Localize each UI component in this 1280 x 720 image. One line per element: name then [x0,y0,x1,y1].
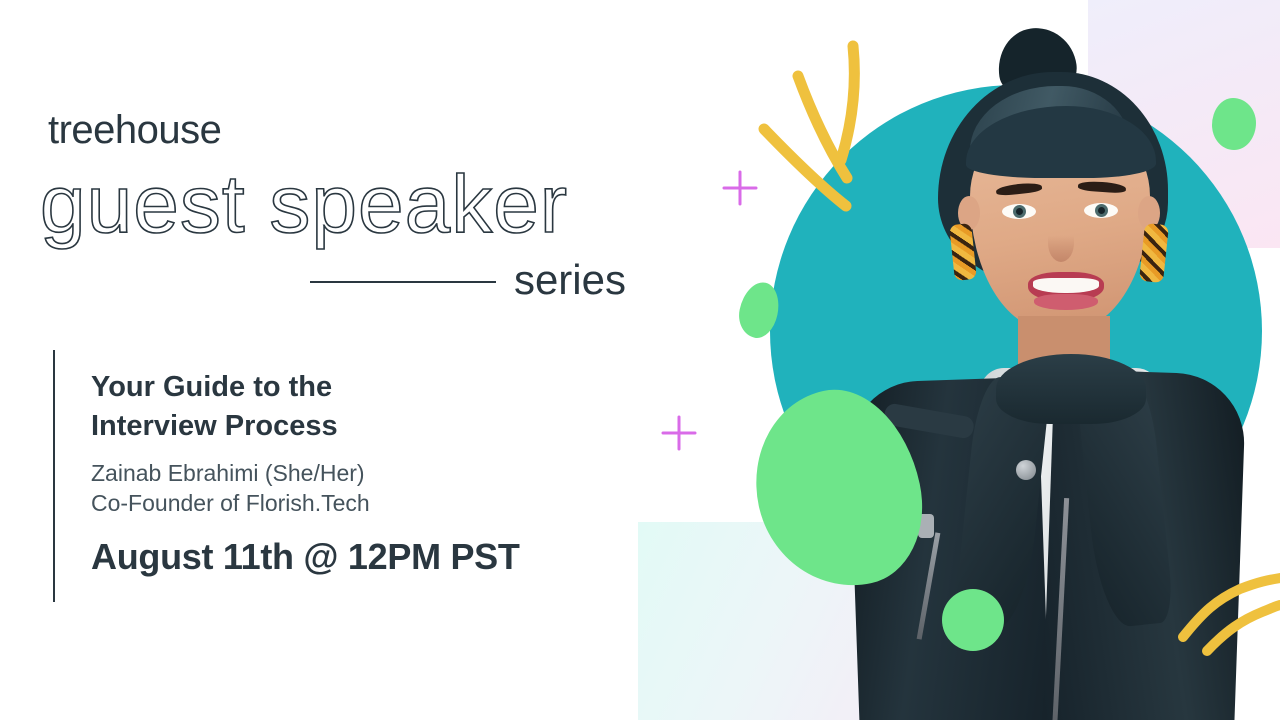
treehouse-wordmark: treehouse [48,108,221,153]
series-row: series [310,252,626,308]
earring-right [1139,223,1169,283]
jacket-collar [996,354,1146,424]
speaker-role: Co-Founder of Florish.Tech [91,490,370,517]
jacket-stud [1016,460,1036,480]
event-datetime: August 11th @ 12PM PST [91,536,520,578]
speaker-portrait [820,28,1250,720]
talk-title-line-1: Your Guide to the [91,368,521,407]
text-column: treehouse guest speaker series Your Guid… [0,0,660,720]
series-label: series [514,256,626,304]
eye-left [1002,204,1036,219]
eye-right [1084,203,1118,218]
promo-slide: treehouse guest speaker series Your Guid… [0,0,1280,720]
talk-title-line-2: Interview Process [91,407,521,446]
accent-bar [53,350,55,602]
speaker-name: Zainab Ebrahimi (She/Her) [91,460,365,487]
talk-title: Your Guide to the Interview Process [91,368,521,445]
nose [1048,224,1074,262]
series-divider [310,281,496,283]
lower-lip [1034,294,1098,310]
green-circle [942,589,1004,651]
hero-outline-title: guest speaker [40,158,568,252]
